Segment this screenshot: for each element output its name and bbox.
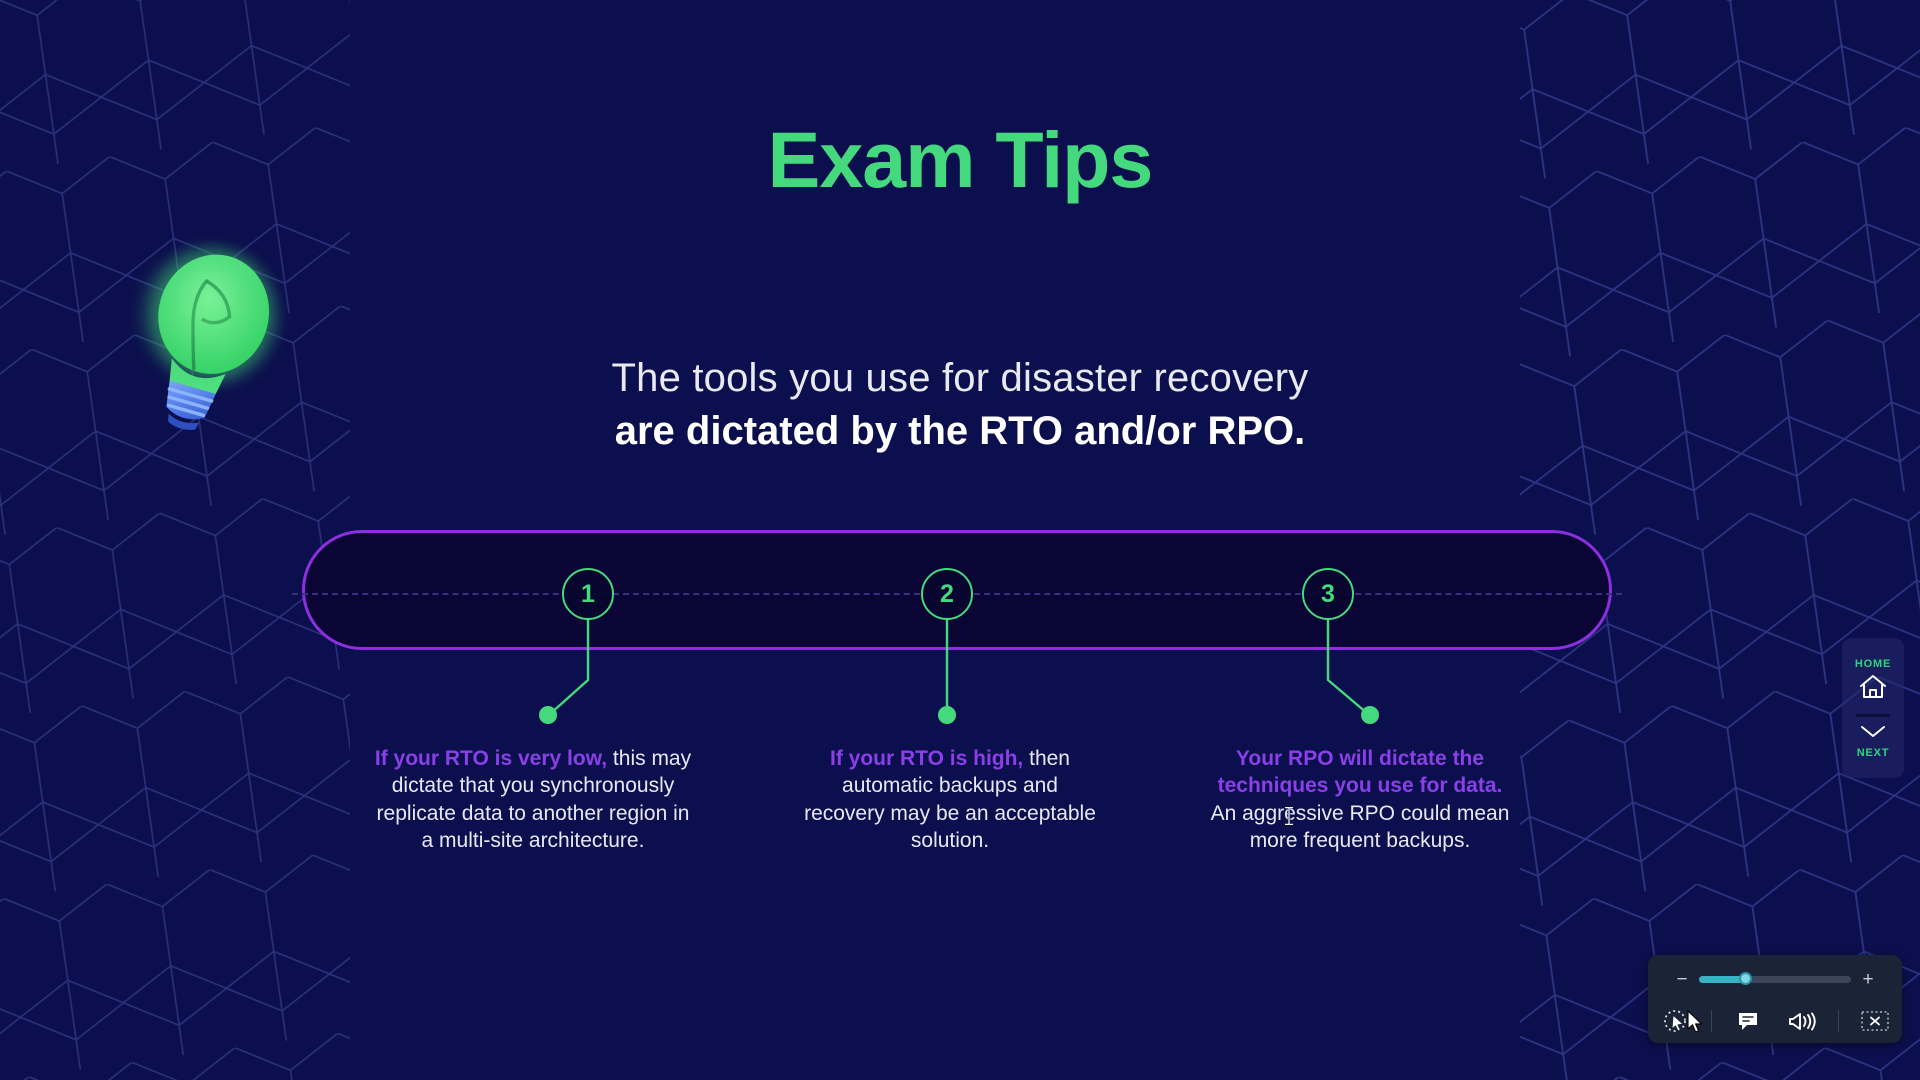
toolbar-separator-1 [1711, 1010, 1712, 1032]
comment-icon [1736, 1009, 1760, 1033]
timeline-caption-3-body: An aggressive RPO could mean more freque… [1211, 802, 1510, 852]
subtitle-line-1: The tools you use for disaster recovery [0, 352, 1920, 405]
slide-navigation-widget: HOME NEXT [1842, 638, 1904, 778]
nav-divider [1856, 714, 1890, 717]
zoom-slider[interactable] [1699, 976, 1851, 983]
zoom-slider-fill [1699, 976, 1745, 983]
home-button[interactable] [1858, 673, 1888, 706]
volume-icon [1788, 1009, 1816, 1033]
next-button[interactable] [1858, 723, 1888, 744]
volume-button[interactable] [1784, 1006, 1820, 1036]
page-title: Exam Tips [0, 120, 1920, 199]
subtitle-block: The tools you use for disaster recovery … [0, 352, 1920, 458]
toolbar-separator-2 [1838, 1010, 1839, 1032]
timeline-connector-2 [920, 618, 1220, 768]
subtitle-line-2: are dictated by the RTO and/or RPO. [0, 405, 1920, 458]
timeline-node-3[interactable]: 3 [1302, 568, 1354, 620]
close-box-icon [1860, 1009, 1890, 1033]
timeline-node-3-number: 3 [1321, 580, 1335, 609]
timeline-caption-1-lead: If your RTO is very low, [375, 747, 607, 770]
timeline-caption-1: If your RTO is very low, this may dictat… [368, 745, 698, 854]
slide-canvas: Exam Tips The tools you use for disaster… [0, 0, 1920, 1080]
timeline-node-2[interactable]: 2 [921, 568, 973, 620]
mouse-cursor-arrow [1686, 1010, 1706, 1036]
mouse-cursor-text-beam [1283, 805, 1295, 827]
timeline-connector-3 [1300, 618, 1410, 748]
next-label: NEXT [1857, 747, 1890, 759]
timeline-caption-3-lead: Your RPO will dictate the techniques you… [1218, 747, 1503, 797]
timeline-node-1-number: 1 [581, 580, 595, 609]
timeline-caption-3: Your RPO will dictate the techniques you… [1210, 745, 1510, 854]
zoom-slider-handle[interactable] [1739, 972, 1752, 985]
zoom-in-button[interactable]: + [1861, 970, 1875, 989]
timeline-node-2-number: 2 [940, 580, 954, 609]
zoom-out-button[interactable]: − [1675, 970, 1689, 989]
chevron-down-icon [1858, 723, 1888, 739]
home-icon [1858, 673, 1888, 701]
timeline-connector-1 [520, 618, 630, 748]
cursor-highlight-icon [1662, 1008, 1688, 1034]
close-button[interactable] [1857, 1006, 1893, 1036]
comment-button[interactable] [1730, 1006, 1766, 1036]
home-label: HOME [1855, 658, 1891, 670]
timeline-node-1[interactable]: 1 [562, 568, 614, 620]
zoom-control-row: − + [1648, 965, 1902, 993]
